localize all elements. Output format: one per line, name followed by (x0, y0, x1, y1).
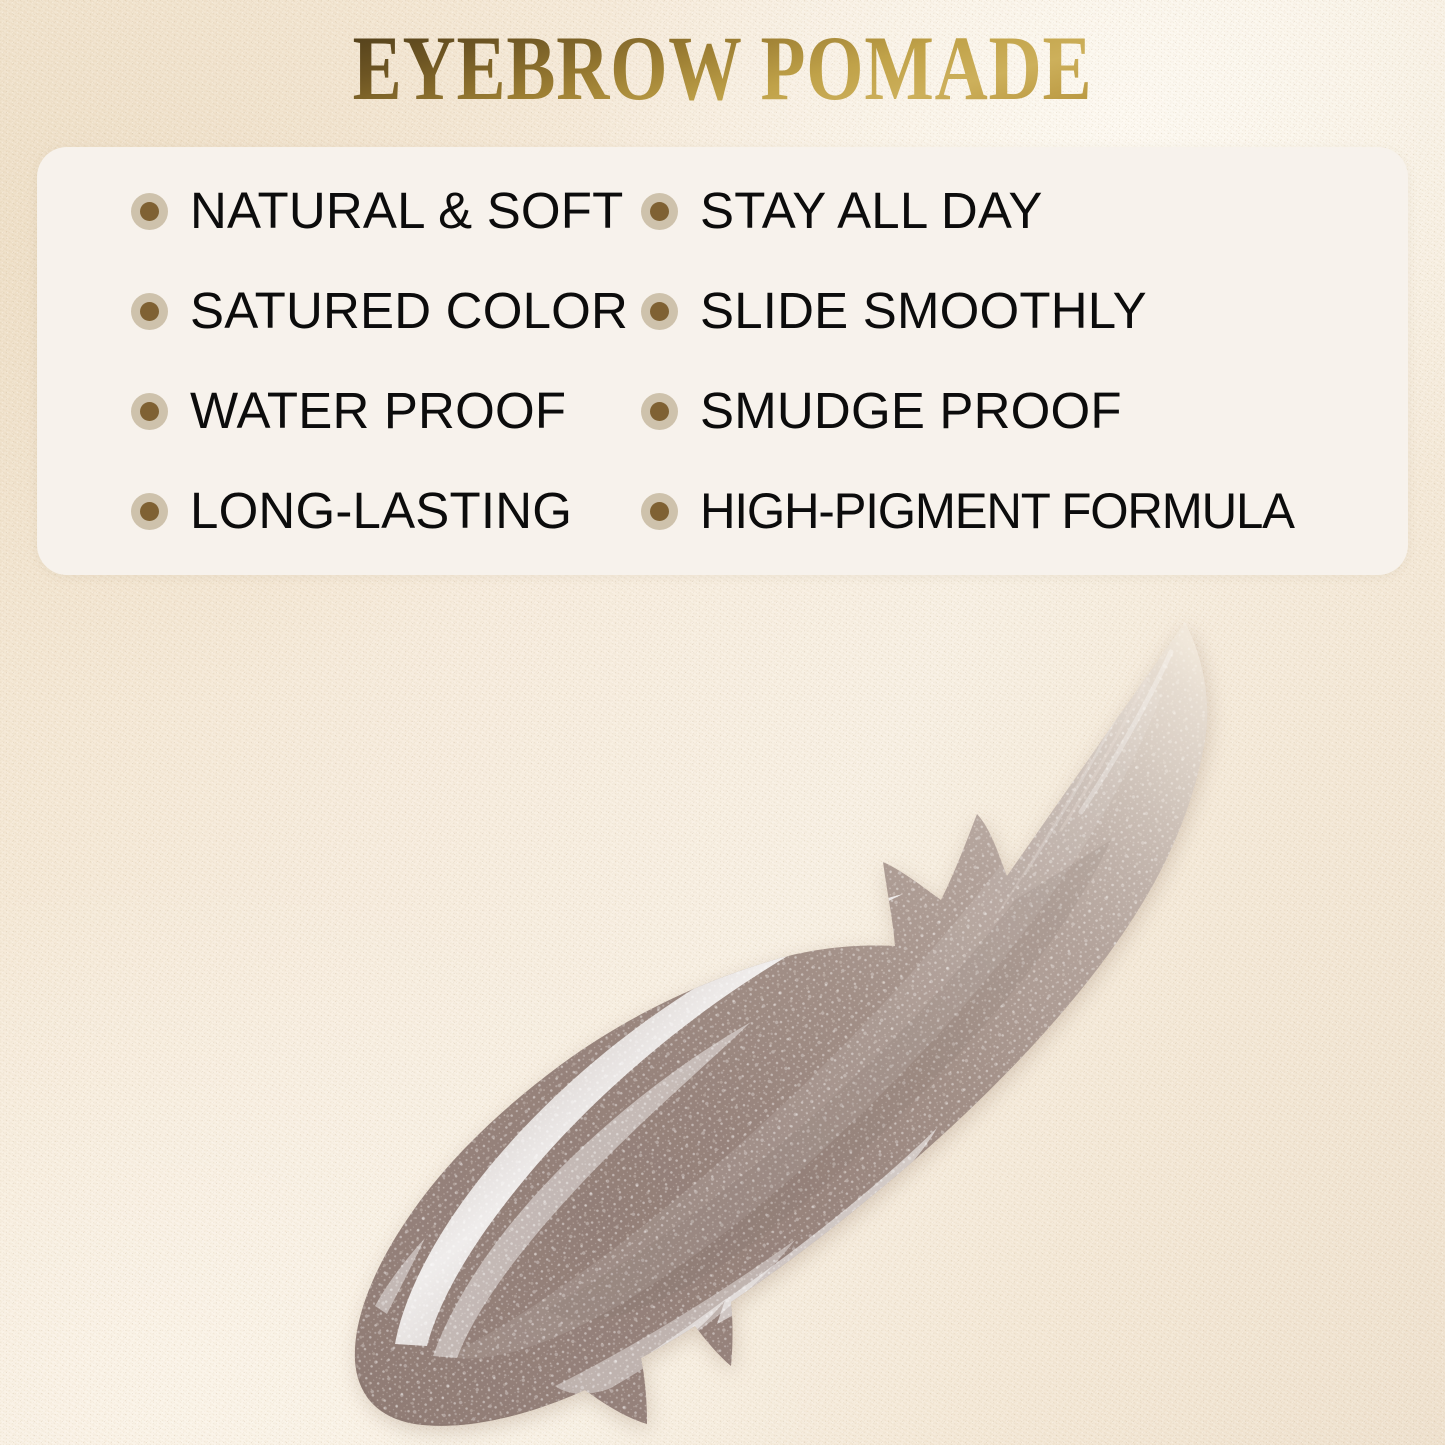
bullet-dot-icon (641, 393, 678, 430)
feature-item-natural-soft: NATURAL & SOFT (37, 161, 627, 261)
feature-item-stay-all-day: STAY ALL DAY (627, 161, 1408, 261)
feature-grid: NATURAL & SOFT STAY ALL DAY SATURED COLO… (37, 147, 1408, 575)
feature-item-smudge-proof: SMUDGE PROOF (627, 361, 1408, 461)
feature-item-slide-smoothly: SLIDE SMOOTHLY (627, 261, 1408, 361)
bullet-dot-icon (131, 493, 168, 530)
bullet-dot-icon (131, 393, 168, 430)
bullet-dot-icon (131, 293, 168, 330)
feature-label: HIGH-PIGMENT FORMULA (700, 485, 1294, 538)
product-infographic: EYEBROW POMADE NATURAL & SOFT STAY ALL D… (0, 0, 1445, 1445)
feature-item-water-proof: WATER PROOF (37, 361, 627, 461)
bullet-dot-icon (641, 193, 678, 230)
product-smear-swatch (255, 600, 1255, 1430)
product-swatch (255, 600, 1255, 1430)
feature-label: SMUDGE PROOF (700, 384, 1122, 438)
feature-card: NATURAL & SOFT STAY ALL DAY SATURED COLO… (37, 147, 1408, 575)
feature-item-satured-color: SATURED COLOR (37, 261, 627, 361)
bullet-dot-icon (131, 193, 168, 230)
feature-label: SATURED COLOR (190, 284, 628, 338)
feature-label: LONG-LASTING (190, 484, 572, 538)
page-title: EYEBROW POMADE (145, 22, 1301, 114)
feature-label: STAY ALL DAY (700, 184, 1043, 238)
feature-item-high-pigment-formula: HIGH-PIGMENT FORMULA (627, 461, 1408, 561)
feature-label: NATURAL & SOFT (190, 184, 624, 238)
feature-label: SLIDE SMOOTHLY (700, 284, 1147, 338)
feature-label: WATER PROOF (190, 384, 566, 438)
bullet-dot-icon (641, 293, 678, 330)
feature-item-long-lasting: LONG-LASTING (37, 461, 627, 561)
bullet-dot-icon (641, 493, 678, 530)
